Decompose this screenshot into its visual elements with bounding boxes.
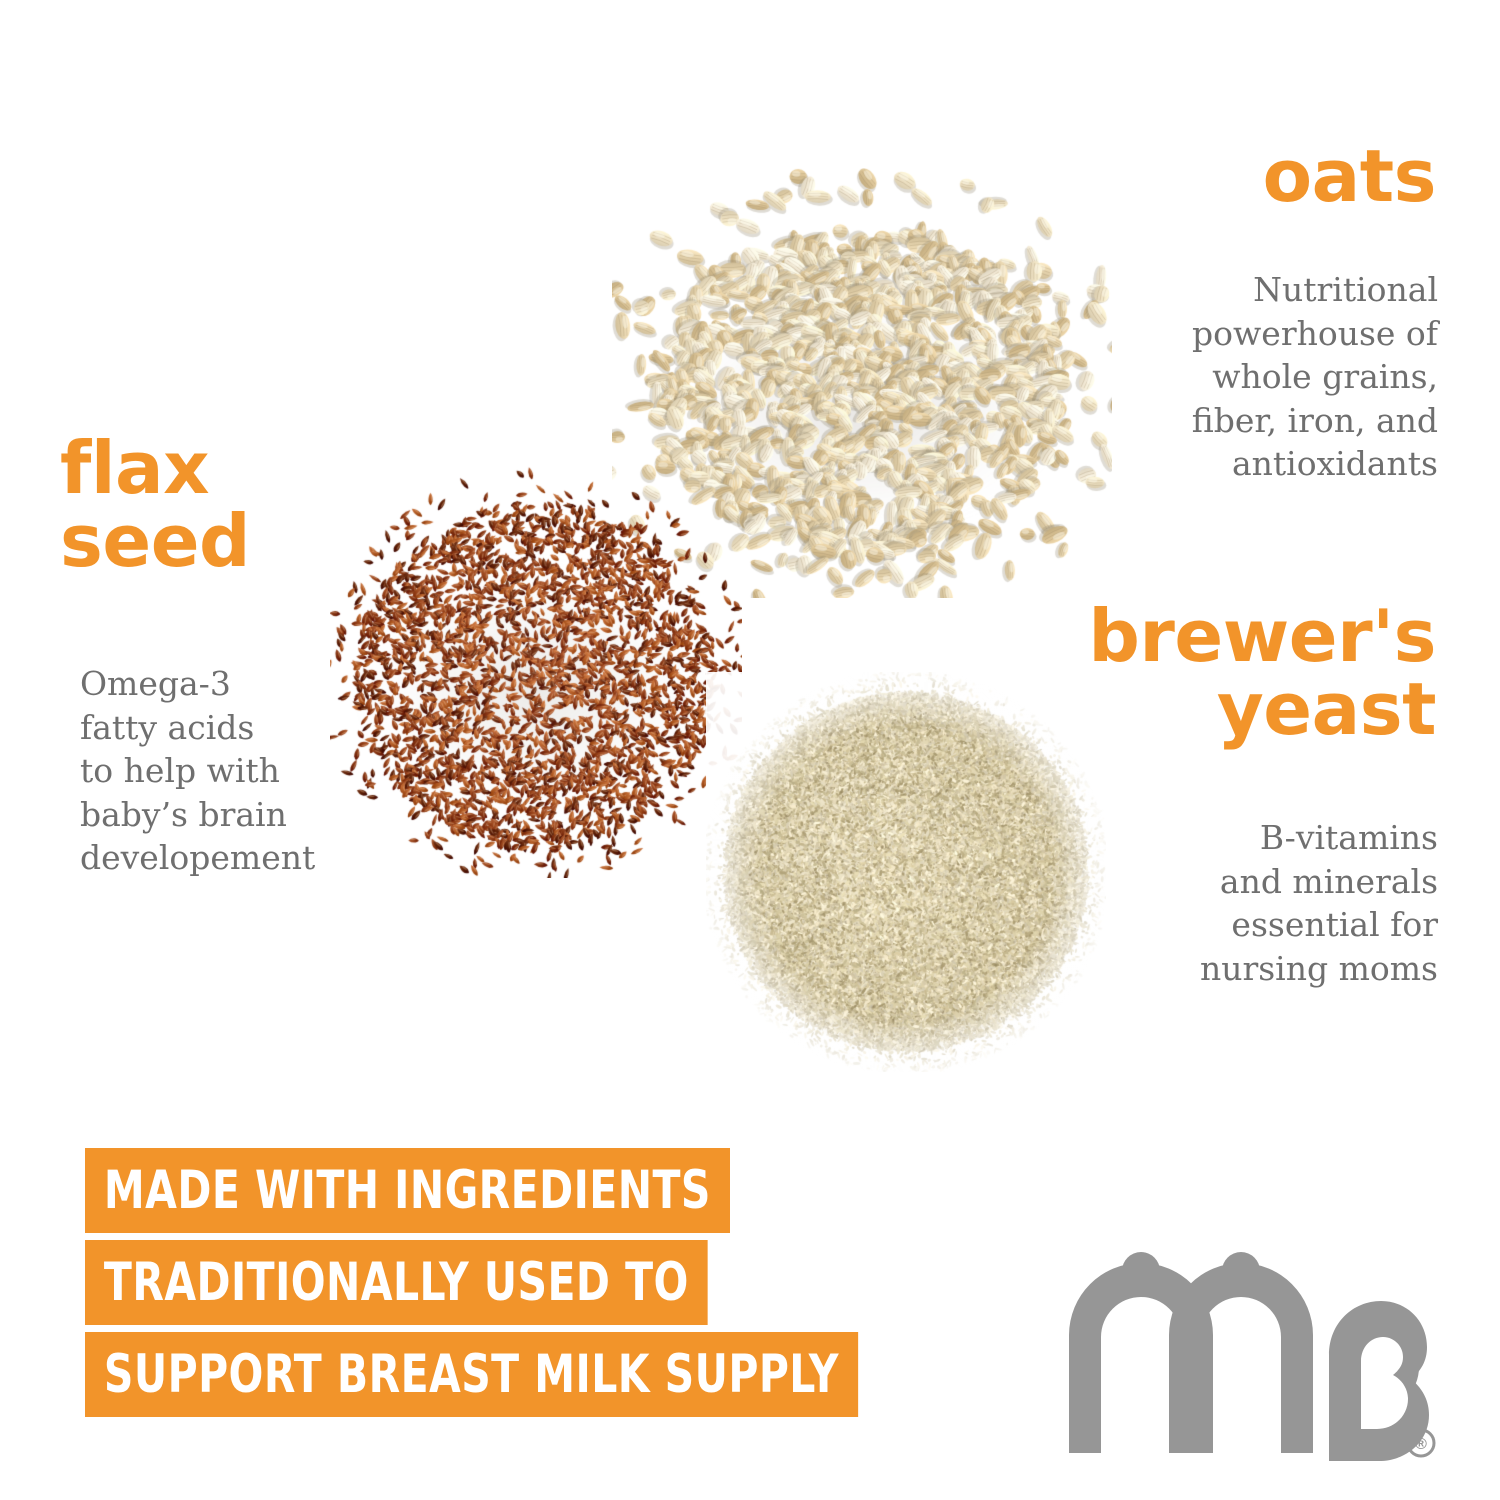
ingredient-heading-flax-seed: flax seed xyxy=(60,432,320,579)
brand-logo: ® xyxy=(1063,1243,1445,1463)
logo-heart-b-mark xyxy=(1329,1301,1429,1461)
ingredient-description-brewers-yeast: B-vitamins and minerals essential for nu… xyxy=(1090,816,1438,990)
infographic-canvas: oats flax seed brewer's yeast Nutritiona… xyxy=(0,0,1500,1500)
flax-seed-pile-image xyxy=(330,466,742,878)
ingredient-description-oats: Nutritional powerhouse of whole grains, … xyxy=(1090,268,1438,486)
ingredient-heading-oats: oats xyxy=(1096,140,1436,213)
ingredient-heading-brewers-yeast: brewer's yeast xyxy=(1010,600,1436,747)
claim-banner-line-3: SUPPORT BREAST MILK SUPPLY xyxy=(85,1332,858,1417)
claim-banner: MADE WITH INGREDIENTS TRADITIONALLY USED… xyxy=(85,1148,984,1417)
logo-m-mark xyxy=(1069,1252,1313,1453)
claim-banner-line-1: MADE WITH INGREDIENTS xyxy=(85,1148,730,1233)
registered-trademark-glyph: ® xyxy=(1415,1436,1427,1453)
claim-banner-line-2: TRADITIONALLY USED TO xyxy=(85,1240,708,1325)
ingredient-description-flax-seed: Omega-3 fatty acids to help with baby’s … xyxy=(80,662,380,880)
